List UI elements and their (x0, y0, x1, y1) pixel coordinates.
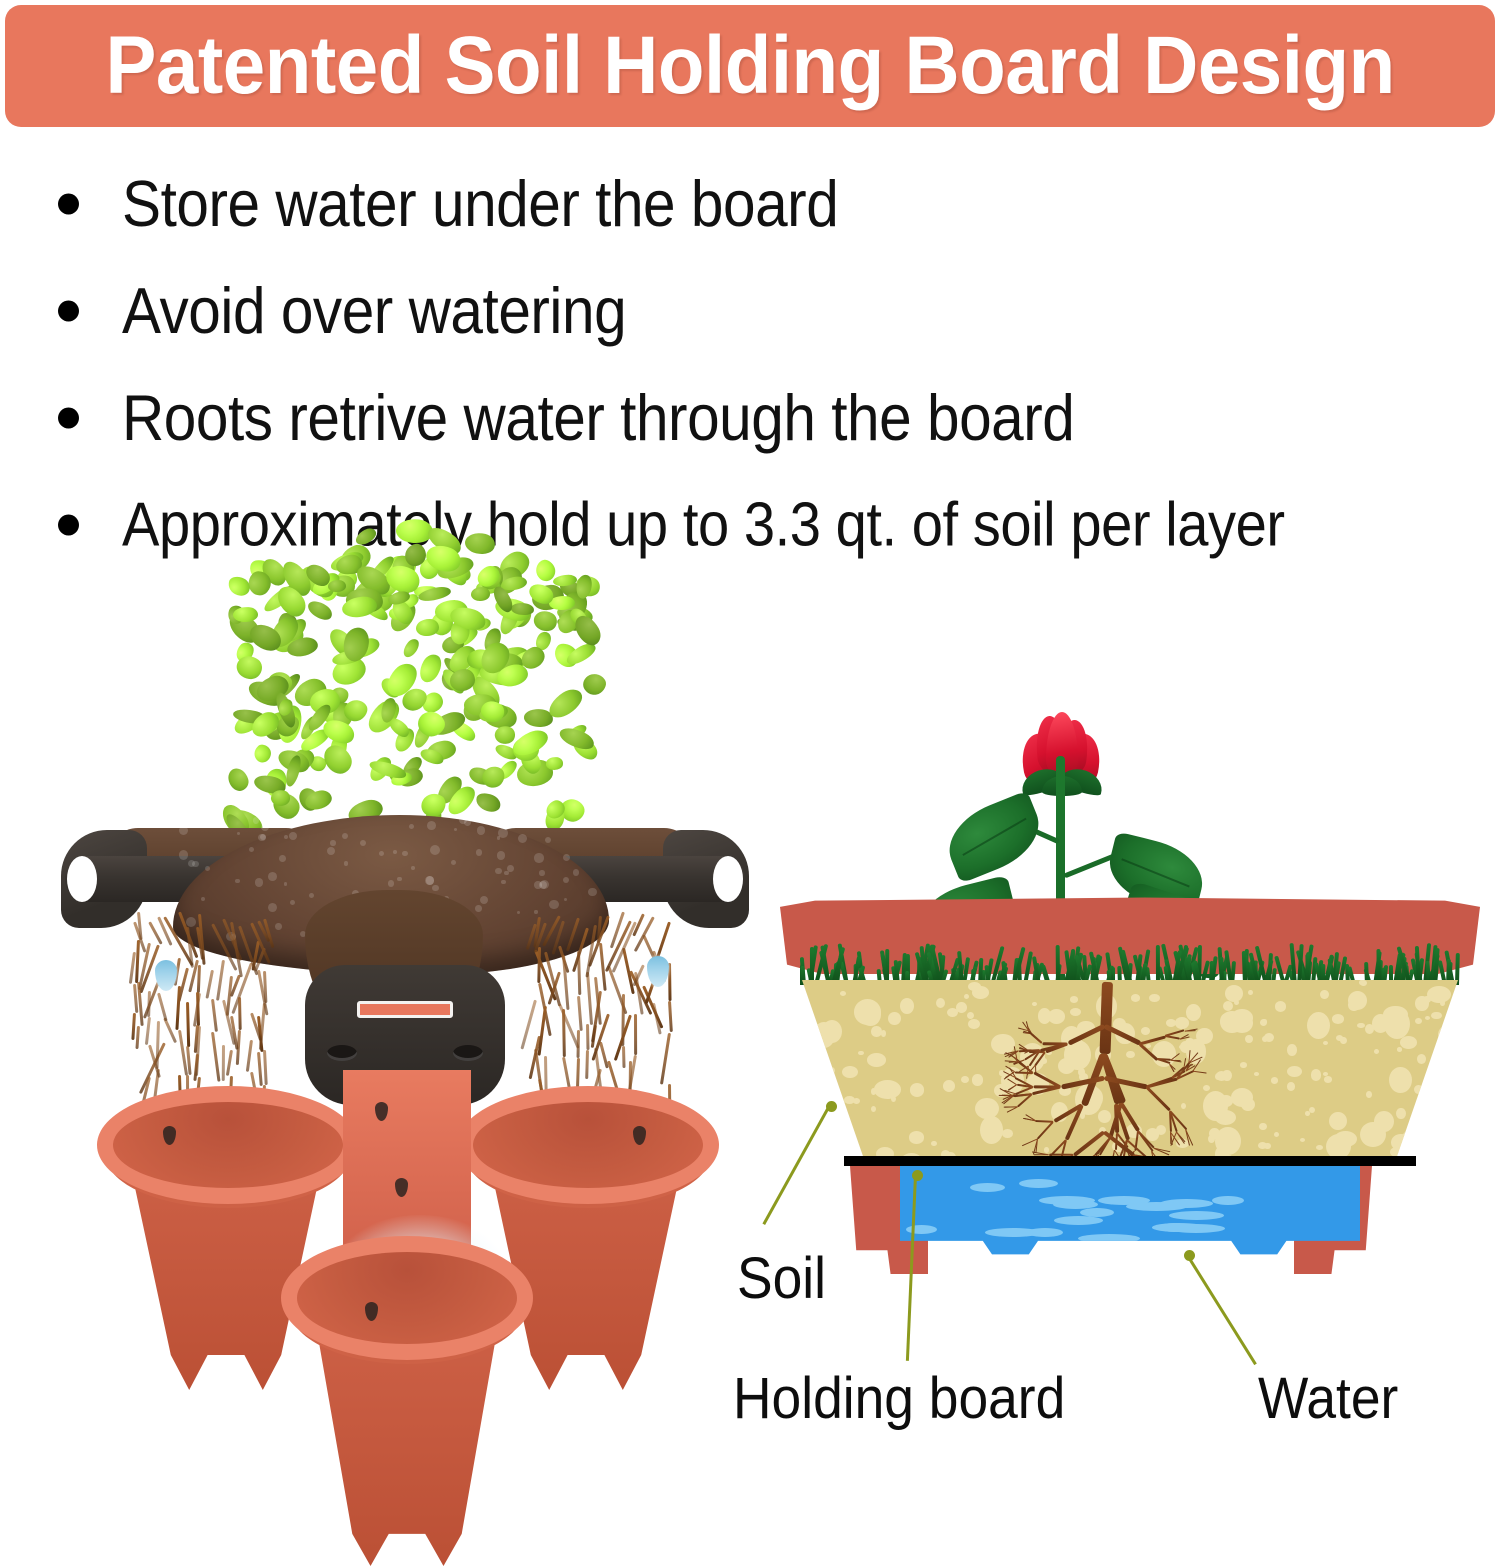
soil-speckle (1275, 1001, 1287, 1012)
soil-speckle (980, 1116, 1004, 1144)
grass-line (800, 943, 1460, 985)
water-wave (1126, 1202, 1187, 1211)
soil-speckle (1323, 1041, 1328, 1045)
grass-blade (1055, 944, 1059, 985)
soil-speckle (1414, 1085, 1423, 1095)
holding-board-line (844, 1156, 1416, 1166)
soil-speckle (1422, 1138, 1428, 1143)
grass-blade (1377, 949, 1382, 985)
soil-speckle (828, 1067, 835, 1074)
soil-speckle (1287, 1044, 1298, 1056)
soil-speckle (818, 1144, 841, 1160)
soil-speckle (1223, 1001, 1233, 1011)
soil-speckle (815, 1055, 823, 1061)
soil-speckle (1259, 1123, 1267, 1131)
soil-speckle (1397, 1047, 1402, 1052)
soil-speckle (1425, 1016, 1431, 1020)
soil-speckle (1443, 1095, 1458, 1109)
soil-speckle (931, 1141, 937, 1146)
rose-leaf (938, 790, 1050, 883)
water-wave (1053, 1200, 1098, 1209)
soil-speckle (1391, 1134, 1411, 1152)
soil-speckle (1215, 1110, 1236, 1125)
water-wave (1169, 1211, 1224, 1220)
root-strand (566, 918, 580, 952)
soil-speckle (1311, 1069, 1322, 1080)
soil-speckle (871, 1088, 877, 1095)
soil-speckle (1438, 1025, 1457, 1045)
root-strand (562, 954, 569, 1009)
bullet-text: Approximately hold up to 3.3 qt. of soil… (122, 493, 1285, 556)
pot-cross-section-diagram (760, 690, 1500, 1310)
soil-speckle (1222, 1070, 1232, 1081)
soil-speckle (1374, 1049, 1379, 1054)
water-wave (1019, 1179, 1058, 1188)
soil-speckle (1254, 1072, 1260, 1076)
soil-speckle (1431, 1012, 1441, 1020)
list-item: Roots retrive water through the board (0, 364, 1500, 471)
soil-speckle (1203, 1085, 1210, 1091)
soil-speckle (972, 986, 989, 999)
root-strand (586, 972, 593, 1025)
grass-blade (809, 947, 813, 985)
soil-speckle (867, 1053, 887, 1067)
bullet-dot-icon (58, 514, 79, 535)
root-branch (1008, 1084, 1017, 1091)
soil-speckle (972, 1074, 983, 1085)
lobe-rim-front (281, 1236, 533, 1360)
bullet-dot-icon (58, 300, 79, 321)
soil-speckle (1366, 1091, 1372, 1097)
soil-speckle (1453, 1157, 1458, 1160)
grass-blade (1155, 945, 1159, 985)
bullet-dot-icon (58, 407, 79, 428)
soil-speckle (1274, 1132, 1279, 1137)
soil-speckle (964, 994, 969, 999)
leaf-vein (962, 818, 1026, 856)
soil-speckle (943, 1080, 955, 1092)
soil-speckle (967, 1012, 974, 1019)
header-banner: Patented Soil Holding Board Design (5, 5, 1495, 127)
soil-speckle (828, 1096, 833, 1100)
root-branch (1139, 1035, 1166, 1045)
soil-speckle (891, 1096, 896, 1102)
water-wave (1027, 1228, 1063, 1237)
root-strand (599, 942, 607, 990)
soil-speckle (888, 1012, 901, 1026)
list-item: Store water under the board (0, 150, 1500, 257)
soil-speckle (909, 1131, 925, 1144)
bullet-text: Roots retrive water through the board (122, 384, 1074, 450)
root-branch (1037, 1121, 1054, 1140)
soil-speckle (1440, 1000, 1446, 1006)
soil-speckle (910, 1083, 925, 1097)
soil-speckle (1332, 1014, 1344, 1023)
bullet-text: Store water under the board (122, 170, 838, 236)
soil-speckle (1260, 1019, 1268, 1026)
leader-line-soil (762, 1105, 831, 1225)
soil-speckle (1307, 1012, 1330, 1039)
leaf-vein (1122, 858, 1190, 887)
root-branch (1061, 1076, 1105, 1090)
soil-speckle (830, 1138, 837, 1144)
soil-speckle (1316, 1145, 1323, 1150)
soil-speckle (881, 1030, 886, 1036)
feature-bullet-list: Store water under the board Avoid over w… (0, 150, 1500, 578)
soil-speckle (1415, 996, 1428, 1011)
plant-root-system (1010, 982, 1200, 1182)
water-wave (1152, 1223, 1207, 1232)
soil-speckle (1415, 1018, 1422, 1024)
soil-speckle (1305, 1111, 1310, 1116)
soil-speckle (1287, 1082, 1295, 1090)
soil-speckle (936, 998, 945, 1008)
soil-speckle (1231, 1088, 1253, 1107)
soil-speckle (822, 1020, 842, 1043)
callout-label-holding-board: Holding board (733, 1370, 1065, 1428)
soil-speckle (809, 1083, 818, 1090)
soil-speckle (854, 999, 881, 1024)
root-branch (1028, 1031, 1043, 1044)
soil-speckle (1401, 1129, 1428, 1150)
soil-speckle (1248, 990, 1253, 995)
grass-blade (1023, 951, 1033, 985)
soil-speckle (1245, 1035, 1253, 1043)
soil-speckle (1357, 1023, 1365, 1028)
soil-speckle (1444, 1033, 1458, 1050)
soil-speckle (1400, 1036, 1417, 1049)
soil-speckle (1374, 1111, 1394, 1132)
root-branch (1145, 1086, 1171, 1112)
callout-label-water: Water (1258, 1370, 1398, 1428)
lobe-rim-back-right (457, 1086, 719, 1204)
three-lobe-planter (75, 1030, 735, 1420)
root-strand (577, 996, 583, 1031)
soil-speckle (874, 1080, 901, 1099)
leader-line-water (1186, 1255, 1256, 1365)
bullet-dot-icon (58, 193, 79, 214)
soil-speckle (858, 1051, 864, 1056)
root-branch (1036, 1120, 1054, 1123)
water-wave (970, 1183, 1005, 1192)
soil-speckle (1324, 1076, 1332, 1082)
soil-speckle (1329, 1112, 1347, 1130)
soil-speckle (900, 998, 914, 1014)
water-wave (1078, 1234, 1141, 1243)
page-title: Patented Soil Holding Board Design (105, 25, 1394, 107)
soil-speckle (1396, 1108, 1406, 1119)
soil-speckle (1443, 1136, 1458, 1156)
soil-speckle (1360, 980, 1367, 986)
lobe-rim-back-left (97, 1086, 359, 1204)
soil-speckle (1240, 1062, 1247, 1068)
soil-speckle (815, 1156, 826, 1160)
soil-speckle (812, 1141, 837, 1160)
root-branch (1165, 1036, 1180, 1041)
soil-speckle (1334, 1131, 1357, 1147)
list-item: Avoid over watering (0, 257, 1500, 364)
soil-speckle (1417, 1054, 1427, 1064)
soil-speckle (1431, 990, 1438, 996)
root-branch (1043, 1042, 1068, 1045)
soil-speckle (840, 991, 846, 996)
soil-speckle (1300, 1138, 1305, 1142)
root-strand (668, 1001, 673, 1032)
soil-speckle (842, 1066, 858, 1078)
water-reservoir (900, 1166, 1360, 1262)
soil-speckle (1271, 1077, 1278, 1083)
soil-speckle (1264, 1143, 1270, 1149)
soil-speckle (1348, 999, 1360, 1011)
root-branch (1139, 1042, 1159, 1060)
soil-speckle (1383, 1006, 1408, 1024)
root-branch (1099, 982, 1113, 1054)
soil-speckle (968, 1019, 979, 1029)
soil-speckle (1287, 1066, 1302, 1077)
soil-speckle (1225, 985, 1243, 1002)
bullet-text: Avoid over watering (122, 277, 626, 343)
soil-speckle (837, 1110, 844, 1118)
water-wave (1054, 1216, 1103, 1225)
soil-speckle (1389, 1067, 1412, 1093)
soil-speckle (961, 1076, 969, 1083)
soil-speckle (956, 1002, 967, 1013)
water-wave (1212, 1196, 1243, 1205)
product-photo-exploded-planter (55, 560, 755, 1420)
soil-speckle (810, 1063, 816, 1069)
soil-speckle (1234, 1000, 1239, 1006)
soil-speckle (1320, 990, 1328, 999)
soil-speckle (871, 1106, 876, 1112)
callout-label-soil: Soil (737, 1250, 826, 1308)
soil-speckle (1410, 1143, 1416, 1150)
